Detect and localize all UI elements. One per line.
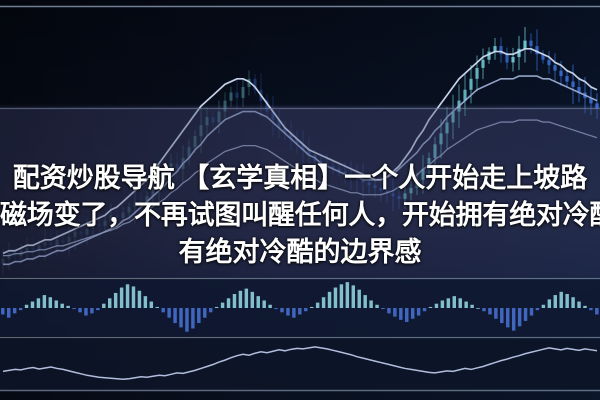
- stock-chart-background: [0, 0, 600, 400]
- banner-image: 配资炒股导航 【玄学真相】一个人开始走上坡路 磁场变了，不再试图叫醒任何人，开始…: [0, 0, 600, 400]
- indicator-line-panel: [0, 339, 600, 390]
- headline-overlay-band: [0, 108, 600, 278]
- macd-histogram-panel: [0, 280, 600, 336]
